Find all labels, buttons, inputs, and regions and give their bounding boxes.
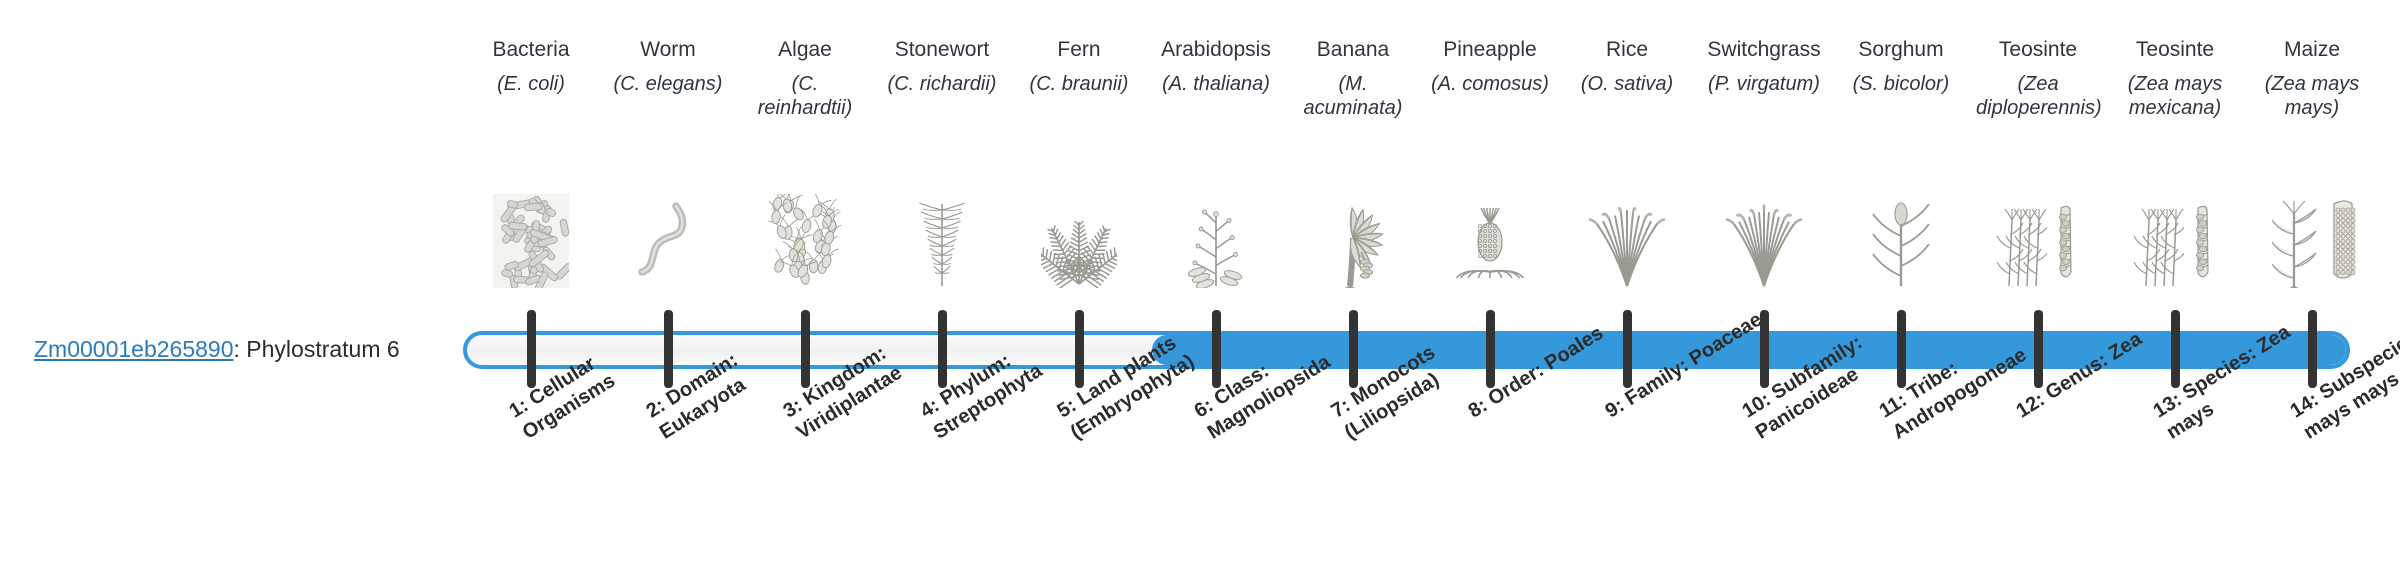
gene-phylostratum-label: Zm00001eb265890: Phylostratum 6 — [34, 336, 400, 363]
species-common-name: Fern — [1017, 38, 1141, 63]
species-latin-name: (M. acuminata) — [1291, 72, 1415, 120]
teosinte-illustration — [2113, 168, 2237, 288]
species-common-name: Teosinte — [2113, 38, 2237, 63]
species-latin-name: (C. elegans) — [606, 72, 730, 96]
species-header-worm-2: Worm(C. elegans) — [606, 38, 730, 96]
arabidopsis-illustration — [1154, 168, 1278, 288]
species-latin-name: (A. comosus) — [1428, 72, 1552, 96]
phylostratum-tick-1[interactable] — [527, 310, 536, 388]
gene-id-link[interactable]: Zm00001eb265890 — [34, 336, 234, 362]
species-common-name: Bacteria — [469, 38, 593, 63]
species-common-name: Pineapple — [1428, 38, 1552, 63]
species-common-name: Teosinte — [1976, 38, 2100, 63]
species-common-name: Stonewort — [880, 38, 1004, 63]
species-header-rice-9: Rice(O. sativa) — [1565, 38, 1689, 96]
gene-label-separator: : — [234, 336, 247, 362]
species-header-teosinte-13: Teosinte(Zea mays mexicana) — [2113, 38, 2237, 120]
species-header-banana-7: Banana(M. acuminata) — [1291, 38, 1415, 120]
organism-illustration-row — [0, 168, 2400, 293]
species-latin-name: (E. coli) — [469, 72, 593, 96]
species-header-fern-5: Fern(C. braunii) — [1017, 38, 1141, 96]
species-common-name: Switchgrass — [1702, 38, 1826, 63]
fern-illustration — [1017, 168, 1141, 288]
species-latin-name: (Zea diploperennis) — [1976, 72, 2100, 120]
species-header-switchgrass-10: Switchgrass(P. virgatum) — [1702, 38, 1826, 96]
species-common-name: Rice — [1565, 38, 1689, 63]
bacteria-illustration — [469, 168, 593, 288]
species-common-name: Sorghum — [1839, 38, 1963, 63]
species-common-name: Algae — [743, 38, 867, 63]
species-header-stonewort-4: Stonewort(C. richardii) — [880, 38, 1004, 96]
species-header-arabidopsis-6: Arabidopsis(A. thaliana) — [1154, 38, 1278, 96]
species-header-pineapple-8: Pineapple(A. comosus) — [1428, 38, 1552, 96]
species-common-name: Maize — [2250, 38, 2374, 63]
phylostratum-number: 12: — [2013, 389, 2049, 423]
algae-illustration — [743, 168, 867, 288]
species-header-teosinte-12: Teosinte(Zea diploperennis) — [1976, 38, 2100, 120]
worm-illustration — [606, 168, 730, 288]
phylostratum-number: 8: — [1465, 394, 1492, 422]
stonewort-illustration — [880, 168, 1004, 288]
species-header-maize-14: Maize(Zea mays mays) — [2250, 38, 2374, 120]
species-latin-name: (O. sativa) — [1565, 72, 1689, 96]
species-latin-name: (A. thaliana) — [1154, 72, 1278, 96]
teosinte-illustration — [1976, 168, 2100, 288]
species-common-name: Arabidopsis — [1154, 38, 1278, 63]
species-latin-name: (Zea mays mays) — [2250, 72, 2374, 120]
rice-illustration — [1565, 168, 1689, 288]
banana-illustration — [1291, 168, 1415, 288]
maize-illustration — [2250, 168, 2374, 288]
species-header-bacteria-1: Bacteria(E. coli) — [469, 38, 593, 96]
switchgrass-illustration — [1702, 168, 1826, 288]
species-header-row: Bacteria(E. coli)Worm(C. elegans)Algae(C… — [0, 38, 2400, 168]
species-latin-name: (C. braunii) — [1017, 72, 1141, 96]
sorghum-illustration — [1839, 168, 1963, 288]
species-latin-name: (C. reinhardtii) — [743, 72, 867, 120]
species-common-name: Banana — [1291, 38, 1415, 63]
gene-phylostratum-value: Phylostratum 6 — [246, 336, 399, 362]
species-common-name: Worm — [606, 38, 730, 63]
species-header-sorghum-11: Sorghum(S. bicolor) — [1839, 38, 1963, 96]
species-latin-name: (C. richardii) — [880, 72, 1004, 96]
pineapple-illustration — [1428, 168, 1552, 288]
species-latin-name: (Zea mays mexicana) — [2113, 72, 2237, 120]
species-latin-name: (P. virgatum) — [1702, 72, 1826, 96]
phylostratum-number: 9: — [1602, 394, 1629, 422]
species-latin-name: (S. bicolor) — [1839, 72, 1963, 96]
species-header-algae-3: Algae(C. reinhardtii) — [743, 38, 867, 120]
phylostratum-figure: Bacteria(E. coli)Worm(C. elegans)Algae(C… — [0, 0, 2400, 580]
